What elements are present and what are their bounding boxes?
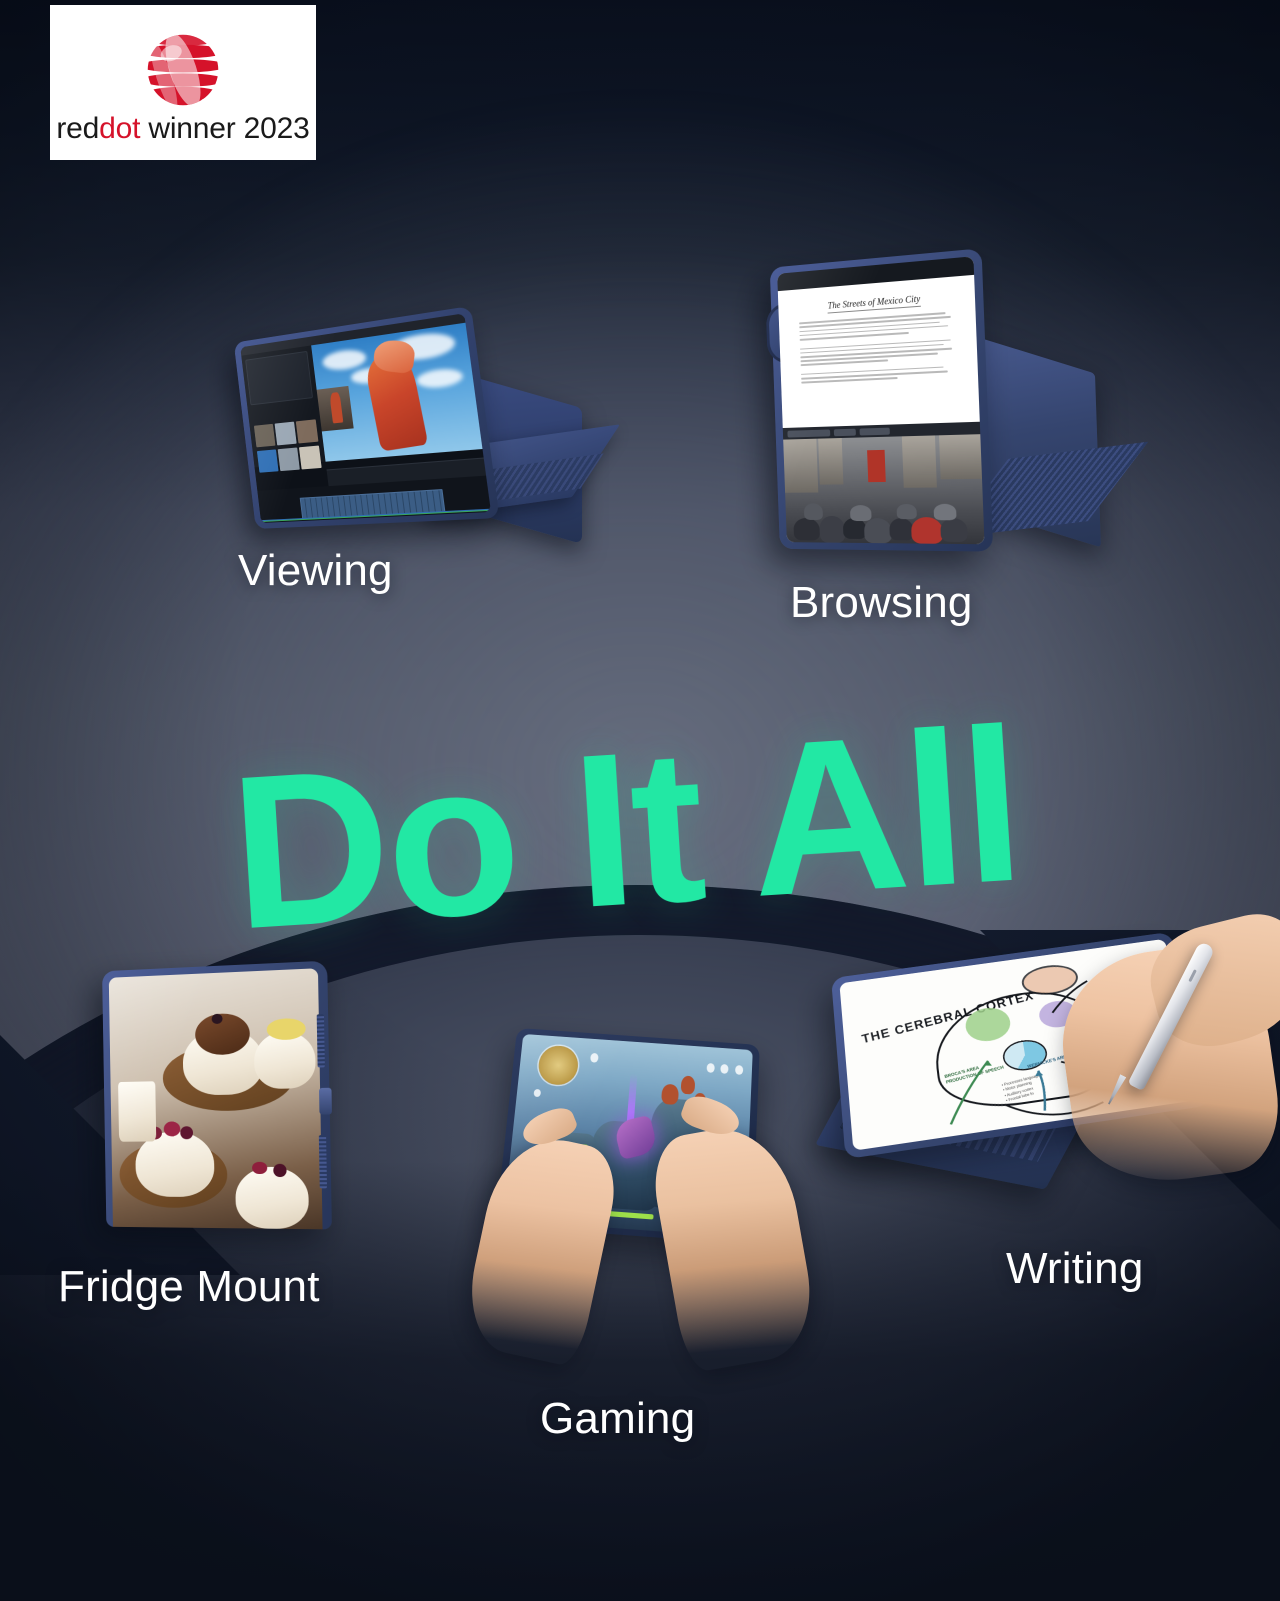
video-editor-preview [311, 323, 482, 462]
thumbnail [299, 445, 322, 469]
game-tree [681, 1076, 696, 1095]
video-editor-library [245, 351, 313, 405]
label-writing: Writing [1006, 1244, 1144, 1294]
screen-viewing [240, 313, 491, 523]
berry [180, 1126, 193, 1139]
scene-browsing: The Streets of Mexico City [762, 258, 1102, 558]
badge-award-text: winner 2023 [140, 112, 309, 145]
tablet-browsing: The Streets of Mexico City [770, 248, 994, 551]
video-editor-timeline [257, 476, 491, 523]
scene-writing: THE CEREBRAL CORTEX BROCA'S AREAPRODUCTI… [828, 938, 1268, 1206]
article-paragraph [800, 339, 954, 366]
badge-brand-dot: dot [99, 112, 140, 145]
game-energy-beam [627, 1074, 638, 1122]
cloud [416, 367, 464, 390]
game-hud-icon[interactable] [707, 1063, 715, 1073]
game-minimap[interactable] [537, 1044, 580, 1086]
article-paragraph [799, 312, 953, 341]
label-fridge-mount: Fridge Mount [58, 1262, 320, 1312]
game-hud-icon[interactable] [735, 1065, 743, 1075]
case-speaker-ports-bottom [319, 1135, 327, 1188]
headline-block: Do It All [226, 692, 1059, 973]
game-hud-icon[interactable] [590, 1053, 599, 1063]
thumbnail [296, 419, 319, 443]
screen-fridge-mount [109, 968, 323, 1229]
berry [274, 1164, 287, 1177]
tablet-fridge-mount [102, 961, 332, 1230]
game-tree [661, 1083, 679, 1104]
game-hud-icon[interactable] [533, 1089, 541, 1098]
berry [212, 1013, 223, 1024]
dessert [254, 1031, 316, 1090]
label-gaming: Gaming [540, 1394, 695, 1444]
headline-do-it-all: Do It All [226, 692, 1058, 965]
street-banner [867, 450, 886, 482]
thumbnail [254, 424, 276, 448]
label-viewing: Viewing [238, 546, 393, 596]
scene-fridge-mount [100, 966, 350, 1228]
cloud [321, 347, 367, 372]
article-title: The Streets of Mexico City [828, 294, 921, 314]
reddot-sphere-logo [141, 28, 225, 112]
article-body: The Streets of Mexico City [778, 275, 980, 428]
thumbnail [275, 421, 297, 445]
label-browsing: Browsing [790, 578, 973, 628]
video-editor-thumbnails [252, 417, 328, 477]
thumbnail [278, 447, 300, 471]
toolbar-button[interactable] [787, 429, 830, 437]
case-speaker-ports-top [317, 1014, 325, 1067]
candle [119, 1081, 156, 1142]
article-paragraph [801, 366, 955, 384]
badge-text: reddot winner 2023 [56, 114, 309, 144]
case-side-clip [319, 1088, 332, 1115]
scene-gaming [486, 1016, 786, 1396]
game-hud-icon[interactable] [721, 1064, 729, 1074]
scene-viewing [218, 318, 578, 548]
toolbar-button[interactable] [860, 427, 890, 435]
dessert [235, 1167, 309, 1230]
badge-brand-red: red [56, 112, 99, 145]
article-photo [783, 435, 984, 545]
screen-browsing: The Streets of Mexico City [777, 256, 984, 544]
product-marketing-banner: reddot winner 2023 [0, 0, 1280, 1601]
tablet-viewing [234, 306, 500, 529]
toolbar-button[interactable] [834, 428, 856, 436]
thumbnail [257, 449, 279, 472]
reddot-award-badge: reddot winner 2023 [50, 5, 316, 160]
